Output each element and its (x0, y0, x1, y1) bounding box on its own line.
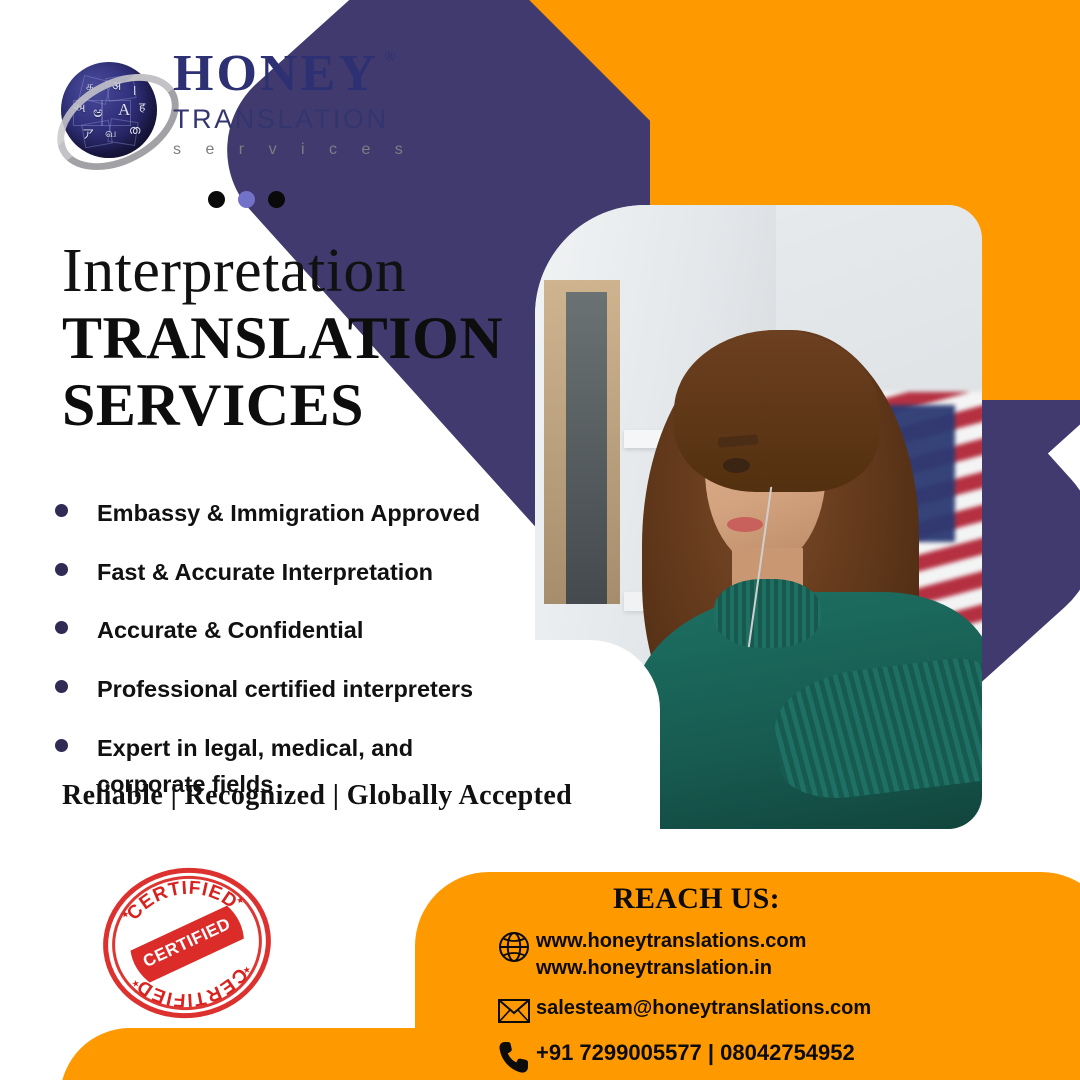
envelope-icon (492, 995, 536, 1025)
phone-icon (492, 1038, 536, 1074)
headline-line-2: SERVICES (62, 372, 503, 439)
logo-brand-name: HONEY ® (173, 48, 379, 100)
list-item: Embassy & Immigration Approved (55, 495, 525, 532)
feature-list: Embassy & Immigration Approved Fast & Ac… (55, 495, 525, 825)
dot-2 (238, 191, 255, 208)
feature-text: Accurate & Confidential (97, 612, 363, 649)
globe-icon (492, 928, 536, 964)
brand-logo: க अ ا અ ಅ A ह ア வ ത HONEY ® TRANSLATION … (55, 48, 465, 178)
logo-dots (208, 191, 285, 208)
feature-text: Embassy & Immigration Approved (97, 495, 480, 532)
logo-brand-text: HONEY (173, 45, 379, 102)
bullet-icon (55, 680, 68, 693)
tagline: Reliable | Recognized | Globally Accepte… (62, 780, 572, 812)
headline-script: Interpretation (62, 236, 406, 307)
bullet-icon (55, 739, 68, 752)
bullet-icon (55, 621, 68, 634)
dot-3 (268, 191, 285, 208)
list-item: Professional certified interpreters (55, 671, 525, 708)
feature-text: Professional certified interpreters (97, 671, 473, 708)
feature-text: Fast & Accurate Interpretation (97, 554, 433, 591)
contact-row-website[interactable]: www.honeytranslations.com www.honeytrans… (492, 928, 1052, 982)
headline-line-1: TRANSLATION (62, 305, 503, 372)
logo-translation-line: TRANSLATION (173, 104, 473, 135)
bullet-icon (55, 563, 68, 576)
dot-1 (208, 191, 225, 208)
contact-details: www.honeytranslations.com www.honeytrans… (492, 928, 1052, 1080)
bullet-icon (55, 504, 68, 517)
email-text[interactable]: salesteam@honeytranslations.com (536, 995, 871, 1022)
list-item: Fast & Accurate Interpretation (55, 554, 525, 591)
logo-services-line: s e r v i c e s (173, 141, 473, 159)
list-item: Accurate & Confidential (55, 612, 525, 649)
contact-title: REACH US: (613, 882, 780, 916)
website-line-1[interactable]: www.honeytranslations.com (536, 930, 806, 952)
phone-text[interactable]: +91 7299005577 | 08042754952 (536, 1038, 855, 1067)
contact-row-phone[interactable]: +91 7299005577 | 08042754952 (492, 1038, 1052, 1074)
certified-stamp-icon: CERTIFIED CERTIFIED ★ ★ ★ ★ CERTIFIED (94, 858, 279, 1027)
contact-row-email[interactable]: salesteam@honeytranslations.com (492, 995, 1052, 1025)
headline-main: TRANSLATION SERVICES (62, 305, 503, 439)
poster-canvas: க अ ا અ ಅ A ह ア வ ത HONEY ® TRANSLATION … (0, 0, 1080, 1080)
registered-trademark-icon: ® (384, 50, 398, 65)
website-text[interactable]: www.honeytranslations.com www.honeytrans… (536, 928, 806, 982)
globe-logo-icon: க अ ا અ ಅ A ह ア வ ത (55, 56, 167, 168)
website-line-2[interactable]: www.honeytranslation.in (536, 957, 772, 979)
